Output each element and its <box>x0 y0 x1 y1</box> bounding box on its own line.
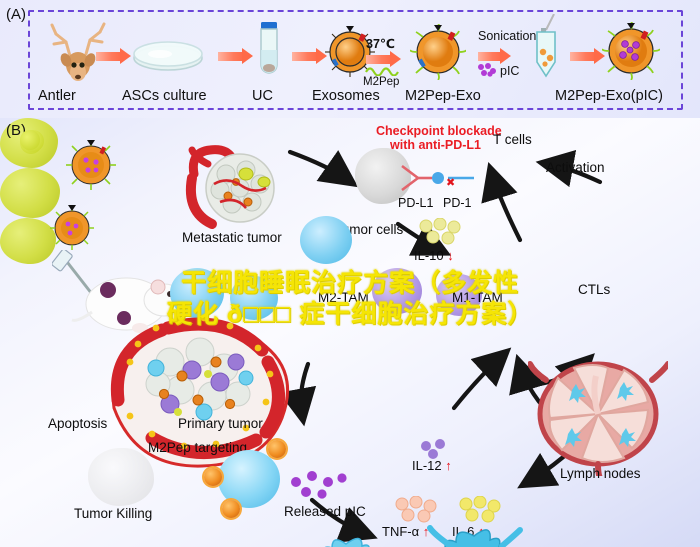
mature-dc-icon <box>424 524 524 547</box>
label-primary-tumor: Primary tumor <box>178 416 263 431</box>
label-pd-1: PD-1 <box>443 196 471 210</box>
released-pic-dots-icon <box>288 470 358 502</box>
cytokine-il-10-direction: ↓ <box>447 248 454 263</box>
arrow-a-2 <box>218 52 244 61</box>
checkpoint-note-line2: with anti-PD-L1 <box>390 138 481 152</box>
exosome-free-1 <box>64 138 118 197</box>
exosome-target-1 <box>268 440 286 458</box>
label-released-pic: Released pIC <box>284 504 366 519</box>
label-apoptosis: Apoptosis <box>48 416 107 431</box>
panel-a-step-label-uc: UC <box>252 88 273 104</box>
il-10-dots-icon <box>418 218 466 246</box>
m2-tam-cell-1-icon <box>300 216 352 264</box>
label-pd-l1: PD-L1 <box>398 196 433 210</box>
cytokine-il-12-direction: ↑ <box>445 458 452 473</box>
label-m2-tam: M2-TAM <box>318 290 369 305</box>
panel-b: (B) <box>0 118 700 547</box>
tnf-alpha-dots-icon <box>394 496 442 524</box>
arrow-a-6 <box>570 52 596 61</box>
arrow-a-4 <box>366 55 392 64</box>
pd-l1-pd-1-icon: ✖ <box>398 160 506 198</box>
label-m1-tam: M1-TAM <box>452 290 503 305</box>
label-activation: Activation <box>546 160 605 175</box>
label-lymph-nodes: Lymph nodes <box>560 466 641 481</box>
cytokine-il-10-label: IL-10 <box>414 248 444 263</box>
panel-a-step-label-exosomes: Exosomes <box>312 88 380 104</box>
panel-a-step-label-m2pepexo: M2Pep-Exo <box>405 88 481 104</box>
targeted-macrophage-icon <box>218 450 280 508</box>
arrow-a-1 <box>96 52 122 61</box>
figure-root: (A) Antler ASCs culture <box>0 0 700 547</box>
annotation-temperature: 37℃ <box>366 36 395 51</box>
annotation-sonication: Sonication <box>478 29 536 43</box>
centrifuge-tube-icon <box>252 20 286 82</box>
deer-antler-icon <box>40 20 132 82</box>
petri-dish-icon <box>130 38 206 74</box>
cytokine-il-12-label: IL-12 <box>412 458 442 473</box>
lymph-node-icon <box>528 358 668 481</box>
apoptotic-cell-icon <box>88 448 154 506</box>
m2pep-exosome-pic-icon <box>602 22 660 80</box>
label-t-cells: T cells <box>493 132 532 147</box>
immature-dc-icon <box>300 530 392 547</box>
annotation-m2pep: M2Pep <box>363 76 399 88</box>
label-ctls: CTLs <box>578 282 610 297</box>
metastatic-tumor-icon <box>182 144 292 243</box>
annotation-pic: pIC <box>500 64 519 78</box>
panel-a-step-label-antler: Antler <box>38 88 76 104</box>
m1-tam-cell-1-icon <box>372 268 422 314</box>
il-12-dots-icon <box>418 438 458 460</box>
svg-text:✖: ✖ <box>446 177 455 189</box>
label-tumor-killing: Tumor Killing <box>74 506 152 521</box>
panel-a-tag: (A) <box>6 6 26 23</box>
exosome-target-3 <box>222 500 240 518</box>
m2pep-squiggle-icon <box>364 64 400 76</box>
arrow-a-5 <box>478 52 502 61</box>
exosome-target-2 <box>204 468 222 486</box>
panel-a-step-label-m2pepexopic: M2Pep-Exo(pIC) <box>555 88 663 104</box>
pic-dots-icon <box>476 62 498 78</box>
sonication-tube-icon <box>530 14 564 84</box>
checkpoint-note-line1: Checkpoint blockade <box>376 124 502 138</box>
label-m2pep-targeting: M2Pep targeting <box>148 440 247 455</box>
panel-a: (A) Antler ASCs culture <box>0 0 700 118</box>
panel-a-step-label-ascs: ASCs culture <box>122 88 207 104</box>
label-metastatic-tumor: Metastatic tumor <box>182 230 282 245</box>
cytokine-il-10: IL-10 ↓ <box>414 248 454 263</box>
il-6-dots-icon <box>458 496 506 524</box>
arrow-a-3 <box>292 52 318 61</box>
cytokine-il-12: IL-12 ↑ <box>412 458 452 473</box>
m2pep-exosome-icon <box>410 24 466 80</box>
